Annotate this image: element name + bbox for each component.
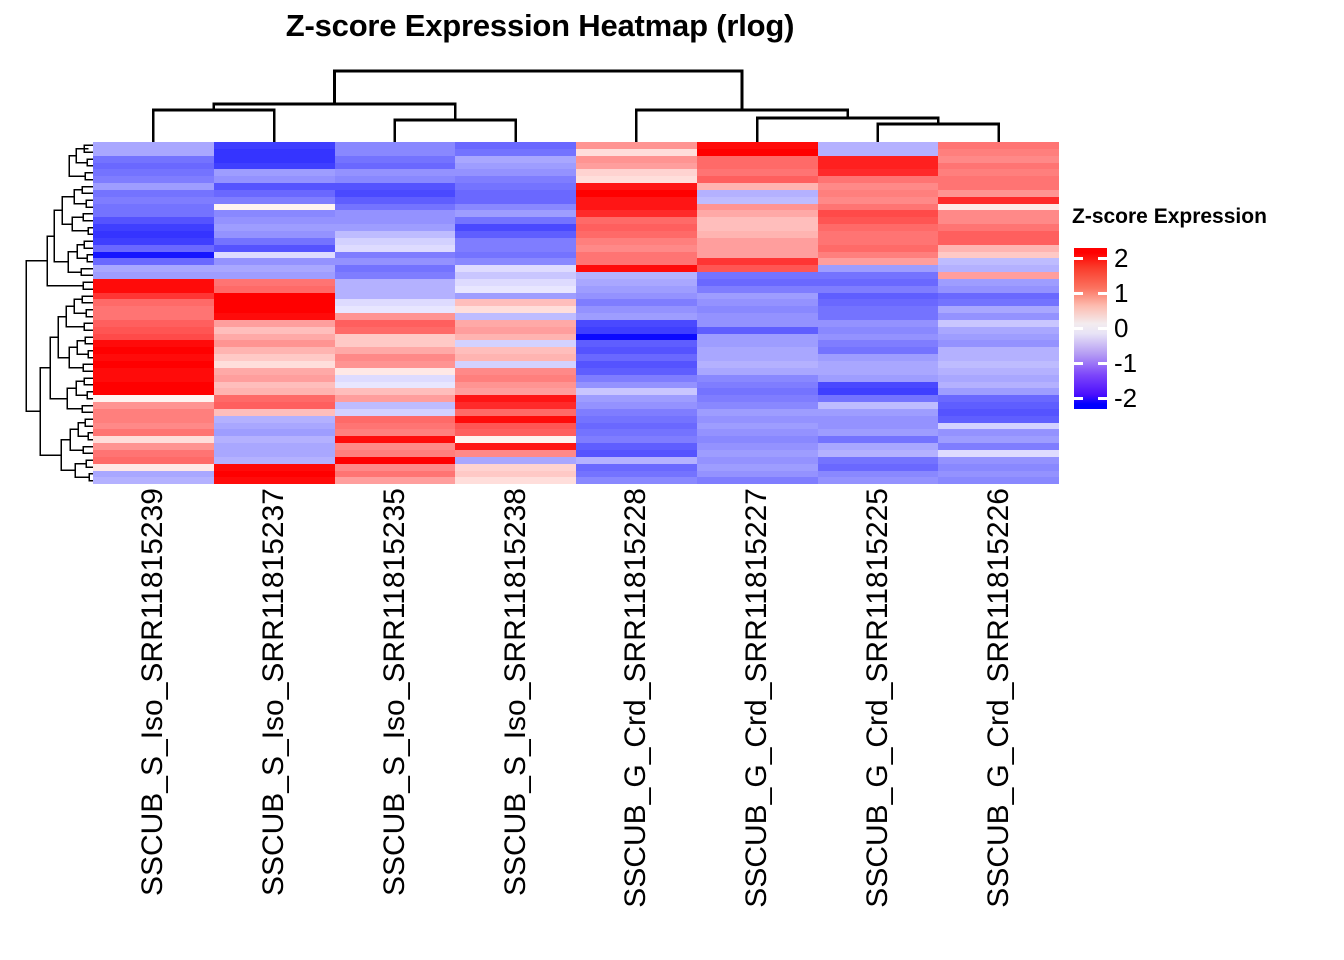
heatmap-row [93, 142, 1059, 149]
column-label-slot: SSCUB_S_Iso_SRR11815235 [335, 484, 456, 944]
heatmap-row [93, 354, 1059, 361]
heatmap-cell [93, 402, 214, 409]
heatmap-cell [335, 245, 456, 252]
heatmap-cell [214, 183, 335, 190]
heatmap-cell [335, 347, 456, 354]
heatmap-cell [455, 176, 576, 183]
heatmap-cell [93, 183, 214, 190]
heatmap-cell [576, 388, 697, 395]
heatmap-cell [576, 306, 697, 313]
heatmap-cell [93, 347, 214, 354]
heatmap-cell [455, 238, 576, 245]
heatmap-cell [335, 210, 456, 217]
heatmap-cell [455, 217, 576, 224]
heatmap-cell [938, 197, 1059, 204]
heatmap-cell [697, 217, 818, 224]
legend-tick-label: 1 [1114, 280, 1128, 306]
heatmap-cell [818, 429, 939, 436]
heatmap-cell [697, 183, 818, 190]
heatmap-row [93, 334, 1059, 341]
heatmap-cell [335, 197, 456, 204]
heatmap-cell [335, 299, 456, 306]
heatmap-cell [214, 395, 335, 402]
heatmap-cell [938, 423, 1059, 430]
heatmap-row [93, 320, 1059, 327]
heatmap-cell [576, 183, 697, 190]
heatmap-row [93, 464, 1059, 471]
heatmap-cell [214, 238, 335, 245]
heatmap-cell [455, 149, 576, 156]
heatmap-row [93, 450, 1059, 457]
heatmap-cell [214, 429, 335, 436]
legend-title: Z-score Expression [1072, 205, 1267, 229]
heatmap-cell [455, 245, 576, 252]
heatmap-cell [93, 265, 214, 272]
heatmap-cell [93, 423, 214, 430]
heatmap-cell [697, 245, 818, 252]
heatmap-row [93, 183, 1059, 190]
heatmap-cell [455, 347, 576, 354]
heatmap-cell [576, 361, 697, 368]
heatmap-cell [818, 163, 939, 170]
heatmap-cell [214, 197, 335, 204]
heatmap-cell [455, 231, 576, 238]
legend-tick-label: 0 [1114, 315, 1128, 341]
heatmap-cell [455, 169, 576, 176]
heatmap-cell [214, 231, 335, 238]
heatmap-cell [576, 443, 697, 450]
heatmap-cell [938, 149, 1059, 156]
heatmap-cell [214, 320, 335, 327]
heatmap-cell [938, 142, 1059, 149]
heatmap-cell [697, 142, 818, 149]
heatmap-cell [697, 149, 818, 156]
heatmap-cell [818, 320, 939, 327]
heatmap-cell [214, 190, 335, 197]
heatmap-cell [818, 416, 939, 423]
heatmap-cell [576, 149, 697, 156]
heatmap-cell [93, 313, 214, 320]
heatmap-cell [818, 299, 939, 306]
heatmap-grid [93, 142, 1059, 484]
heatmap-cell [938, 306, 1059, 313]
heatmap-row [93, 306, 1059, 313]
heatmap-cell [335, 443, 456, 450]
heatmap-cell [335, 306, 456, 313]
heatmap-cell [697, 450, 818, 457]
heatmap-row [93, 409, 1059, 416]
heatmap-cell [335, 183, 456, 190]
heatmap-row [93, 245, 1059, 252]
heatmap-cell [818, 217, 939, 224]
heatmap-cell [335, 429, 456, 436]
heatmap-cell [697, 197, 818, 204]
heatmap-cell [214, 176, 335, 183]
heatmap-cell [697, 320, 818, 327]
heatmap-cell [697, 436, 818, 443]
heatmap-cell [697, 286, 818, 293]
heatmap-cell [455, 409, 576, 416]
heatmap-cell [93, 375, 214, 382]
heatmap-cell [93, 245, 214, 252]
heatmap-cell [455, 183, 576, 190]
heatmap-cell [938, 334, 1059, 341]
heatmap-cell [576, 402, 697, 409]
heatmap-cell [818, 252, 939, 259]
heatmap-cell [818, 286, 939, 293]
heatmap-cell [93, 258, 214, 265]
heatmap-cell [93, 252, 214, 259]
heatmap-row [93, 217, 1059, 224]
legend-tick [1098, 292, 1107, 295]
heatmap-cell [214, 293, 335, 300]
heatmap-cell [576, 340, 697, 347]
heatmap-cell [455, 402, 576, 409]
heatmap-cell [938, 163, 1059, 170]
heatmap-cell [93, 272, 214, 279]
heatmap-cell [938, 272, 1059, 279]
heatmap-cell [818, 388, 939, 395]
heatmap-cell [818, 183, 939, 190]
column-label: SSCUB_G_Crd_SRR11815227 [740, 488, 774, 908]
heatmap-row [93, 416, 1059, 423]
heatmap-cell [576, 156, 697, 163]
heatmap-cell [938, 327, 1059, 334]
heatmap-cell [818, 436, 939, 443]
heatmap-cell [576, 382, 697, 389]
column-label: SSCUB_S_Iso_SRR11815235 [378, 488, 412, 896]
heatmap-cell [214, 272, 335, 279]
heatmap-cell [214, 313, 335, 320]
heatmap-cell [938, 279, 1059, 286]
heatmap-cell [938, 361, 1059, 368]
heatmap-cell [576, 464, 697, 471]
heatmap-cell [576, 293, 697, 300]
heatmap-cell [938, 299, 1059, 306]
heatmap-cell [455, 224, 576, 231]
heatmap-cell [214, 210, 335, 217]
heatmap-row [93, 190, 1059, 197]
heatmap-cell [697, 306, 818, 313]
heatmap-cell [214, 169, 335, 176]
heatmap-cell [455, 395, 576, 402]
heatmap-cell [93, 361, 214, 368]
heatmap-cell [938, 429, 1059, 436]
column-label-slot: SSCUB_G_Crd_SRR11815225 [818, 484, 939, 944]
heatmap-row [93, 169, 1059, 176]
heatmap-cell [818, 231, 939, 238]
heatmap-cell [93, 395, 214, 402]
heatmap-cell [818, 457, 939, 464]
heatmap-cell [455, 272, 576, 279]
heatmap-cell [576, 334, 697, 341]
heatmap-cell [214, 156, 335, 163]
heatmap-cell [697, 416, 818, 423]
heatmap-cell [938, 443, 1059, 450]
heatmap-cell [455, 443, 576, 450]
column-label-slot: SSCUB_G_Crd_SRR11815227 [697, 484, 818, 944]
heatmap-figure: Z-score Expression Heatmap (rlog) [0, 0, 1344, 960]
heatmap-cell [576, 313, 697, 320]
heatmap-row [93, 436, 1059, 443]
heatmap-row [93, 382, 1059, 389]
heatmap-row [93, 471, 1059, 478]
heatmap-cell [335, 423, 456, 430]
heatmap-cell [335, 265, 456, 272]
heatmap-cell [818, 272, 939, 279]
heatmap-cell [455, 368, 576, 375]
heatmap-row [93, 231, 1059, 238]
heatmap-cell [818, 149, 939, 156]
heatmap-cell [335, 252, 456, 259]
heatmap-cell [938, 347, 1059, 354]
heatmap-cell [576, 142, 697, 149]
heatmap-cell [455, 313, 576, 320]
heatmap-cell [214, 279, 335, 286]
heatmap-cell [697, 423, 818, 430]
heatmap-cell [818, 382, 939, 389]
row-dendrogram [14, 142, 93, 484]
heatmap-cell [335, 217, 456, 224]
heatmap-cell [938, 224, 1059, 231]
heatmap-cell [214, 299, 335, 306]
heatmap-cell [93, 286, 214, 293]
heatmap-cell [697, 429, 818, 436]
heatmap-cell [335, 409, 456, 416]
heatmap-cell [697, 176, 818, 183]
heatmap-cell [818, 156, 939, 163]
heatmap-cell [576, 409, 697, 416]
heatmap-cell [576, 252, 697, 259]
heatmap-cell [93, 306, 214, 313]
column-dendrogram [93, 58, 1059, 142]
heatmap-cell [818, 176, 939, 183]
heatmap-cell [455, 457, 576, 464]
heatmap-cell [335, 190, 456, 197]
heatmap-cell [938, 313, 1059, 320]
heatmap-cell [818, 224, 939, 231]
heatmap-cell [818, 210, 939, 217]
heatmap-cell [697, 169, 818, 176]
heatmap-cell [576, 265, 697, 272]
legend-tick [1098, 397, 1107, 400]
heatmap-cell [214, 361, 335, 368]
heatmap-cell [938, 176, 1059, 183]
heatmap-cell [335, 402, 456, 409]
heatmap-cell [697, 382, 818, 389]
heatmap-cell [818, 142, 939, 149]
heatmap-cell [335, 471, 456, 478]
heatmap-cell [335, 238, 456, 245]
heatmap-cell [335, 361, 456, 368]
heatmap-cell [938, 395, 1059, 402]
heatmap-cell [335, 375, 456, 382]
heatmap-cell [93, 190, 214, 197]
legend-tick [1074, 397, 1083, 400]
heatmap-cell [697, 471, 818, 478]
heatmap-cell [455, 416, 576, 423]
heatmap-cell [335, 416, 456, 423]
heatmap-cell [697, 340, 818, 347]
heatmap-row [93, 265, 1059, 272]
heatmap-cell [818, 279, 939, 286]
heatmap-cell [697, 156, 818, 163]
heatmap-cell [93, 224, 214, 231]
column-label-slot: SSCUB_S_Iso_SRR11815239 [93, 484, 214, 944]
column-label: SSCUB_S_Iso_SRR11815237 [257, 488, 291, 896]
heatmap-cell [335, 204, 456, 211]
heatmap-cell [455, 299, 576, 306]
heatmap-cell [335, 163, 456, 170]
heatmap-cell [214, 457, 335, 464]
heatmap-row [93, 429, 1059, 436]
heatmap-cell [818, 169, 939, 176]
column-labels: SSCUB_S_Iso_SRR11815239SSCUB_S_Iso_SRR11… [93, 484, 1059, 944]
heatmap-row [93, 457, 1059, 464]
heatmap-cell [335, 320, 456, 327]
heatmap-cell [93, 238, 214, 245]
heatmap-row [93, 361, 1059, 368]
heatmap-cell [455, 450, 576, 457]
heatmap-cell [214, 334, 335, 341]
heatmap-cell [93, 293, 214, 300]
heatmap-row [93, 423, 1059, 430]
heatmap-row [93, 210, 1059, 217]
heatmap-cell [455, 293, 576, 300]
heatmap-cell [697, 279, 818, 286]
column-label: SSCUB_G_Crd_SRR11815226 [982, 488, 1016, 908]
legend-tick [1098, 257, 1107, 260]
heatmap-cell [93, 450, 214, 457]
heatmap-row [93, 252, 1059, 259]
heatmap-cell [697, 347, 818, 354]
heatmap-cell [214, 217, 335, 224]
heatmap-cell [697, 457, 818, 464]
heatmap-cell [818, 347, 939, 354]
heatmap-cell [818, 258, 939, 265]
heatmap-cell [335, 224, 456, 231]
heatmap-cell [455, 464, 576, 471]
heatmap-cell [335, 156, 456, 163]
heatmap-cell [697, 299, 818, 306]
heatmap-cell [818, 423, 939, 430]
heatmap-cell [214, 149, 335, 156]
heatmap-row [93, 258, 1059, 265]
legend-tick-label: -1 [1114, 350, 1137, 376]
heatmap-row [93, 347, 1059, 354]
heatmap-cell [335, 450, 456, 457]
heatmap-cell [697, 204, 818, 211]
heatmap-cell [938, 450, 1059, 457]
heatmap-row [93, 340, 1059, 347]
heatmap-cell [697, 354, 818, 361]
column-label-slot: SSCUB_G_Crd_SRR11815228 [576, 484, 697, 944]
heatmap-cell [938, 375, 1059, 382]
legend-tick-label: 2 [1114, 245, 1128, 271]
heatmap-cell [93, 334, 214, 341]
heatmap-cell [697, 252, 818, 259]
heatmap-cell [335, 340, 456, 347]
heatmap-cell [335, 231, 456, 238]
heatmap-cell [938, 368, 1059, 375]
heatmap-cell [938, 464, 1059, 471]
heatmap-row [93, 176, 1059, 183]
legend: Z-score Expression 210-1-2 [1070, 205, 1340, 420]
heatmap-cell [938, 245, 1059, 252]
heatmap-cell [214, 347, 335, 354]
heatmap-cell [93, 464, 214, 471]
legend-tick [1098, 327, 1107, 330]
heatmap-cell [576, 375, 697, 382]
heatmap-cell [938, 265, 1059, 272]
heatmap-cell [938, 286, 1059, 293]
heatmap-cell [576, 279, 697, 286]
heatmap-cell [93, 388, 214, 395]
column-label: SSCUB_G_Crd_SRR11815228 [619, 488, 653, 908]
heatmap-cell [818, 197, 939, 204]
heatmap-row [93, 224, 1059, 231]
legend-tick [1074, 362, 1083, 365]
heatmap-cell [697, 313, 818, 320]
heatmap-cell [455, 306, 576, 313]
heatmap-cell [697, 190, 818, 197]
column-label-slot: SSCUB_S_Iso_SRR11815237 [214, 484, 335, 944]
heatmap-cell [335, 176, 456, 183]
heatmap-cell [214, 382, 335, 389]
heatmap-cell [576, 347, 697, 354]
heatmap-row [93, 368, 1059, 375]
heatmap-cell [818, 340, 939, 347]
heatmap-cell [455, 204, 576, 211]
column-label-slot: SSCUB_S_Iso_SRR11815238 [455, 484, 576, 944]
heatmap-cell [938, 238, 1059, 245]
heatmap-cell [938, 190, 1059, 197]
heatmap-cell [576, 224, 697, 231]
heatmap-cell [93, 156, 214, 163]
heatmap-cell [455, 320, 576, 327]
heatmap-cell [335, 142, 456, 149]
heatmap-cell [455, 190, 576, 197]
heatmap-cell [576, 190, 697, 197]
heatmap-cell [938, 210, 1059, 217]
heatmap-row [93, 204, 1059, 211]
legend-tick-label: -2 [1114, 385, 1137, 411]
heatmap-cell [576, 238, 697, 245]
heatmap-cell [576, 471, 697, 478]
heatmap-cell [938, 354, 1059, 361]
heatmap-cell [93, 176, 214, 183]
heatmap-cell [697, 443, 818, 450]
heatmap-cell [335, 327, 456, 334]
heatmap-cell [93, 436, 214, 443]
heatmap-cell [938, 382, 1059, 389]
heatmap-cell [214, 204, 335, 211]
heatmap-cell [335, 368, 456, 375]
heatmap-cell [335, 464, 456, 471]
heatmap-cell [455, 163, 576, 170]
heatmap-cell [214, 464, 335, 471]
heatmap-cell [455, 429, 576, 436]
heatmap-cell [455, 361, 576, 368]
legend-tick [1074, 327, 1083, 330]
heatmap-cell [214, 388, 335, 395]
heatmap-cell [335, 169, 456, 176]
heatmap-cell [93, 169, 214, 176]
heatmap-cell [576, 457, 697, 464]
heatmap-cell [576, 210, 697, 217]
heatmap-row [93, 149, 1059, 156]
heatmap-cell [938, 156, 1059, 163]
